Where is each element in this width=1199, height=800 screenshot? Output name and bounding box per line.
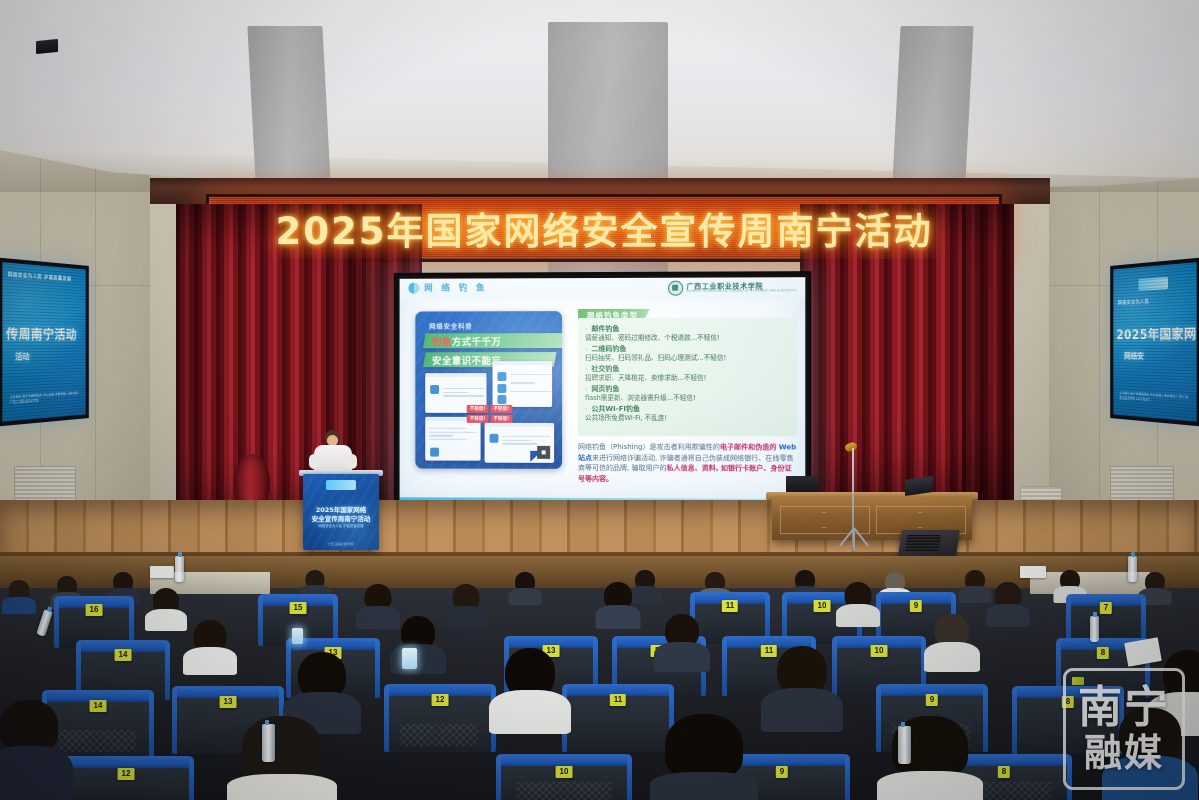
side-led-right-meta: 主办单位 南宁市委网信办 市公安局 | 承办单位 广西工业职业技术学院 2025… [1119, 391, 1191, 406]
side-led-left-headline: 网络安全为人民 护高质量发展 [8, 272, 81, 284]
side-led-right-subtitle: 网络安 [1124, 351, 1144, 362]
seat-number: 7 [1100, 602, 1112, 614]
seat-number: 12 [432, 694, 449, 706]
bullet-description: 招聘求职、天降桃花、卖惨求助...不轻信! [585, 374, 790, 383]
bullet-description: 扫码抽奖、扫码领礼品、扫码心理测试...不轻信! [585, 354, 790, 363]
audience-person [990, 582, 1026, 624]
seat-number: 9 [910, 600, 922, 612]
water-bottle [175, 556, 184, 582]
podium-laptop [36, 39, 58, 54]
paragraph-part-1: 网络钓鱼（Phishing）是攻击者利用欺骗性的 [578, 443, 720, 451]
infographic-card: 网络安全科普 钓鱼方式千千万 安全意识不能忘 [415, 311, 562, 469]
audience-person [238, 716, 326, 800]
list-item: · 二维码钓鱼 [585, 345, 790, 354]
warning-tag: 不轻信! [467, 415, 489, 423]
audience-seat[interactable]: 11 [566, 688, 670, 752]
list-item: · 公共WI-FI钓鱼 [585, 405, 790, 414]
seat-number: 10 [556, 766, 573, 778]
seat-number: 8 [998, 766, 1010, 778]
water-bottle [262, 724, 275, 762]
audience-seat[interactable]: 12 [62, 760, 190, 800]
infographic-warning-tags: 不轻信! 不轻信! 不轻信! 不轻信! [467, 405, 523, 423]
audience-person [510, 572, 540, 604]
slide-header-title: 网 络 钓 鱼 [424, 281, 487, 293]
infographic-ribbon-2-text: 安全意识不能忘 [432, 353, 501, 367]
mic-tripod-legs [832, 528, 874, 550]
seat-number: 10 [871, 645, 888, 657]
seat-number: 9 [776, 766, 788, 778]
audience-person [772, 646, 832, 724]
side-led-left-title: 传周南宁活动 [6, 323, 84, 343]
audience-person [660, 614, 704, 668]
infographic-mini-card [485, 423, 555, 463]
side-led-screen-right: 网络安全为人民 2025年国家网 网络安 主办单位 南宁市委网信办 市公安局 |… [1110, 258, 1199, 427]
watermark-line-2: 融媒 [1084, 734, 1164, 772]
water-bottle [1090, 616, 1099, 642]
seat-number: 14 [115, 649, 132, 661]
podium-line-3: 网络安全为人民 护高质量发展 [318, 523, 363, 528]
audience-person [660, 714, 748, 800]
bullet-description: flash需更新、浏览器需升级...不轻信! [585, 394, 790, 403]
phishing-definition-paragraph: 网络钓鱼（Phishing）是攻击者利用欺骗性的电子邮件和伪造的 Web 站点来… [578, 442, 797, 485]
phone-screen [292, 628, 303, 644]
seat-number: 11 [722, 600, 738, 612]
school-logo: 广西工业职业技术学院 GUANGXI TECHNOLOGICAL COLLEGE… [668, 280, 797, 296]
seat-number: 14 [90, 700, 107, 712]
infographic-mini-card [425, 417, 480, 461]
seat-number: 9 [926, 694, 938, 706]
warning-tag: 不轻信! [467, 405, 489, 413]
led-banner: 2025年国家网络安全宣传周南宁活动 [206, 194, 1002, 262]
infographic-ribbon-1: 钓鱼方式千千万 [423, 333, 562, 348]
side-led-right-headline: 网络安全为人民 [1118, 298, 1191, 308]
bullet-heading: 社交钓鱼 [591, 365, 619, 374]
seat-number: 11 [610, 694, 626, 706]
auditorium-photo: 2025年国家网络安全宣传周南宁活动 网 络 钓 鱼 广西工业职业技术学院 GU… [0, 0, 1199, 800]
podium: 2025年国家网络 安全宣传周南宁活动 网络安全为人民 护高质量发展 广西工业职… [303, 474, 379, 550]
side-led-left-meta: 主办单位 南宁市委网信办 市公安局 市教育局 | 承办单位 广西工业职业技术学院 [10, 391, 81, 406]
audience-person [148, 588, 184, 628]
water-bottle [1128, 556, 1137, 582]
presentation-slide: 网 络 钓 鱼 广西工业职业技术学院 GUANGXI TECHNOLOGICAL… [400, 277, 806, 505]
school-emblem-icon [668, 281, 683, 296]
bullet-dot-icon: · [585, 325, 587, 334]
phone-screen [402, 648, 417, 669]
event-logo-icon [1139, 277, 1168, 291]
yin-yang-icon [408, 282, 419, 293]
projection-screen: 网 络 钓 鱼 广西工业职业技术学院 GUANGXI TECHNOLOGICAL… [394, 271, 812, 511]
audience-person [188, 620, 232, 672]
bullet-dot-icon: · [585, 405, 587, 414]
audience-person [360, 584, 396, 626]
infographic-mini-card [492, 361, 552, 407]
audience-person [4, 580, 34, 612]
slide-header: 网 络 钓 鱼 [408, 281, 487, 293]
audience-person [500, 648, 560, 726]
bullet-description: 调薪通知、密码过期修改、个税退款...不轻信! [585, 334, 790, 343]
name-card [150, 566, 174, 578]
bullet-heading: 网页钓鱼 [591, 385, 619, 394]
watermark-badge-icon [1072, 677, 1084, 685]
paragraph-highlight-1: 电子邮件和伪造的 [720, 443, 777, 451]
stage-curtain-far-right [962, 204, 1014, 504]
infographic-ribbon-1-hot: 钓鱼 [432, 337, 452, 348]
seat-number: 13 [220, 696, 237, 708]
side-led-screen-left: 网络安全为人民 护高质量发展 传周南宁活动 活动 主办单位 南宁市委网信办 市公… [0, 258, 89, 427]
bullet-description: 公共场所免费Wi-Fi, 不乱连! [585, 414, 790, 423]
audience-person [930, 614, 974, 668]
phishing-type-list: · 邮件钓鱼 调薪通知、密码过期修改、个税退款...不轻信! · 二维码钓鱼 扫… [578, 317, 797, 436]
audience-person [960, 570, 990, 602]
audience-person [448, 584, 484, 626]
seat-number: 12 [118, 768, 135, 780]
slide-content-column: 网络钓鱼类型 · 邮件钓鱼 调薪通知、密码过期修改、个税退款...不轻信! · … [578, 304, 797, 493]
warning-tag: 不轻信! [490, 415, 512, 423]
bullet-dot-icon: · [585, 385, 587, 394]
bullet-heading: 二维码钓鱼 [591, 345, 626, 354]
school-subtitle: GUANGXI TECHNOLOGICAL COLLEGE OF MACHINE… [687, 290, 798, 293]
seat-number: 15 [290, 602, 307, 614]
podium-event-logo-icon [326, 480, 356, 490]
audience-person [0, 700, 64, 800]
warning-tag: 不轻信! [490, 405, 512, 413]
list-item: · 网页钓鱼 [585, 385, 790, 394]
seat-number: 16 [86, 604, 103, 616]
stage-floor-speaker [898, 530, 960, 556]
side-led-left-subtitle: 活动 [15, 351, 30, 363]
seat-number: 10 [814, 600, 831, 612]
seat-number: 8 [1097, 647, 1109, 659]
audience-seat[interactable]: 12 [388, 688, 492, 752]
watermark-logo: 南宁 融媒 [1063, 668, 1185, 790]
audience-seat[interactable]: 10 [500, 758, 628, 800]
bullet-heading: 公共WI-FI钓鱼 [591, 405, 640, 414]
bullet-dot-icon: · [585, 345, 587, 354]
podium-line-2: 安全宣传周南宁活动 [312, 513, 371, 523]
bullet-dot-icon: · [585, 365, 587, 374]
led-banner-text: 2025年国家网络安全宣传周南宁活动 [276, 201, 933, 255]
podium-line-4: 广西工业职业技术学院 [328, 542, 354, 546]
audience-person [600, 582, 636, 624]
watermark-line-1: 南宁 [1078, 686, 1170, 730]
name-card [1020, 566, 1046, 578]
infographic-ribbon-1-rest: 方式千千万 [452, 337, 502, 348]
list-item: · 社交钓鱼 [585, 365, 790, 374]
infographic-kicker: 网络安全科普 [429, 320, 472, 330]
side-led-right-title: 2025年国家网 [1116, 323, 1194, 343]
water-bottle [898, 726, 911, 764]
list-item: · 邮件钓鱼 [585, 325, 790, 334]
bullet-heading: 邮件钓鱼 [591, 325, 619, 334]
audience-person [840, 582, 876, 624]
